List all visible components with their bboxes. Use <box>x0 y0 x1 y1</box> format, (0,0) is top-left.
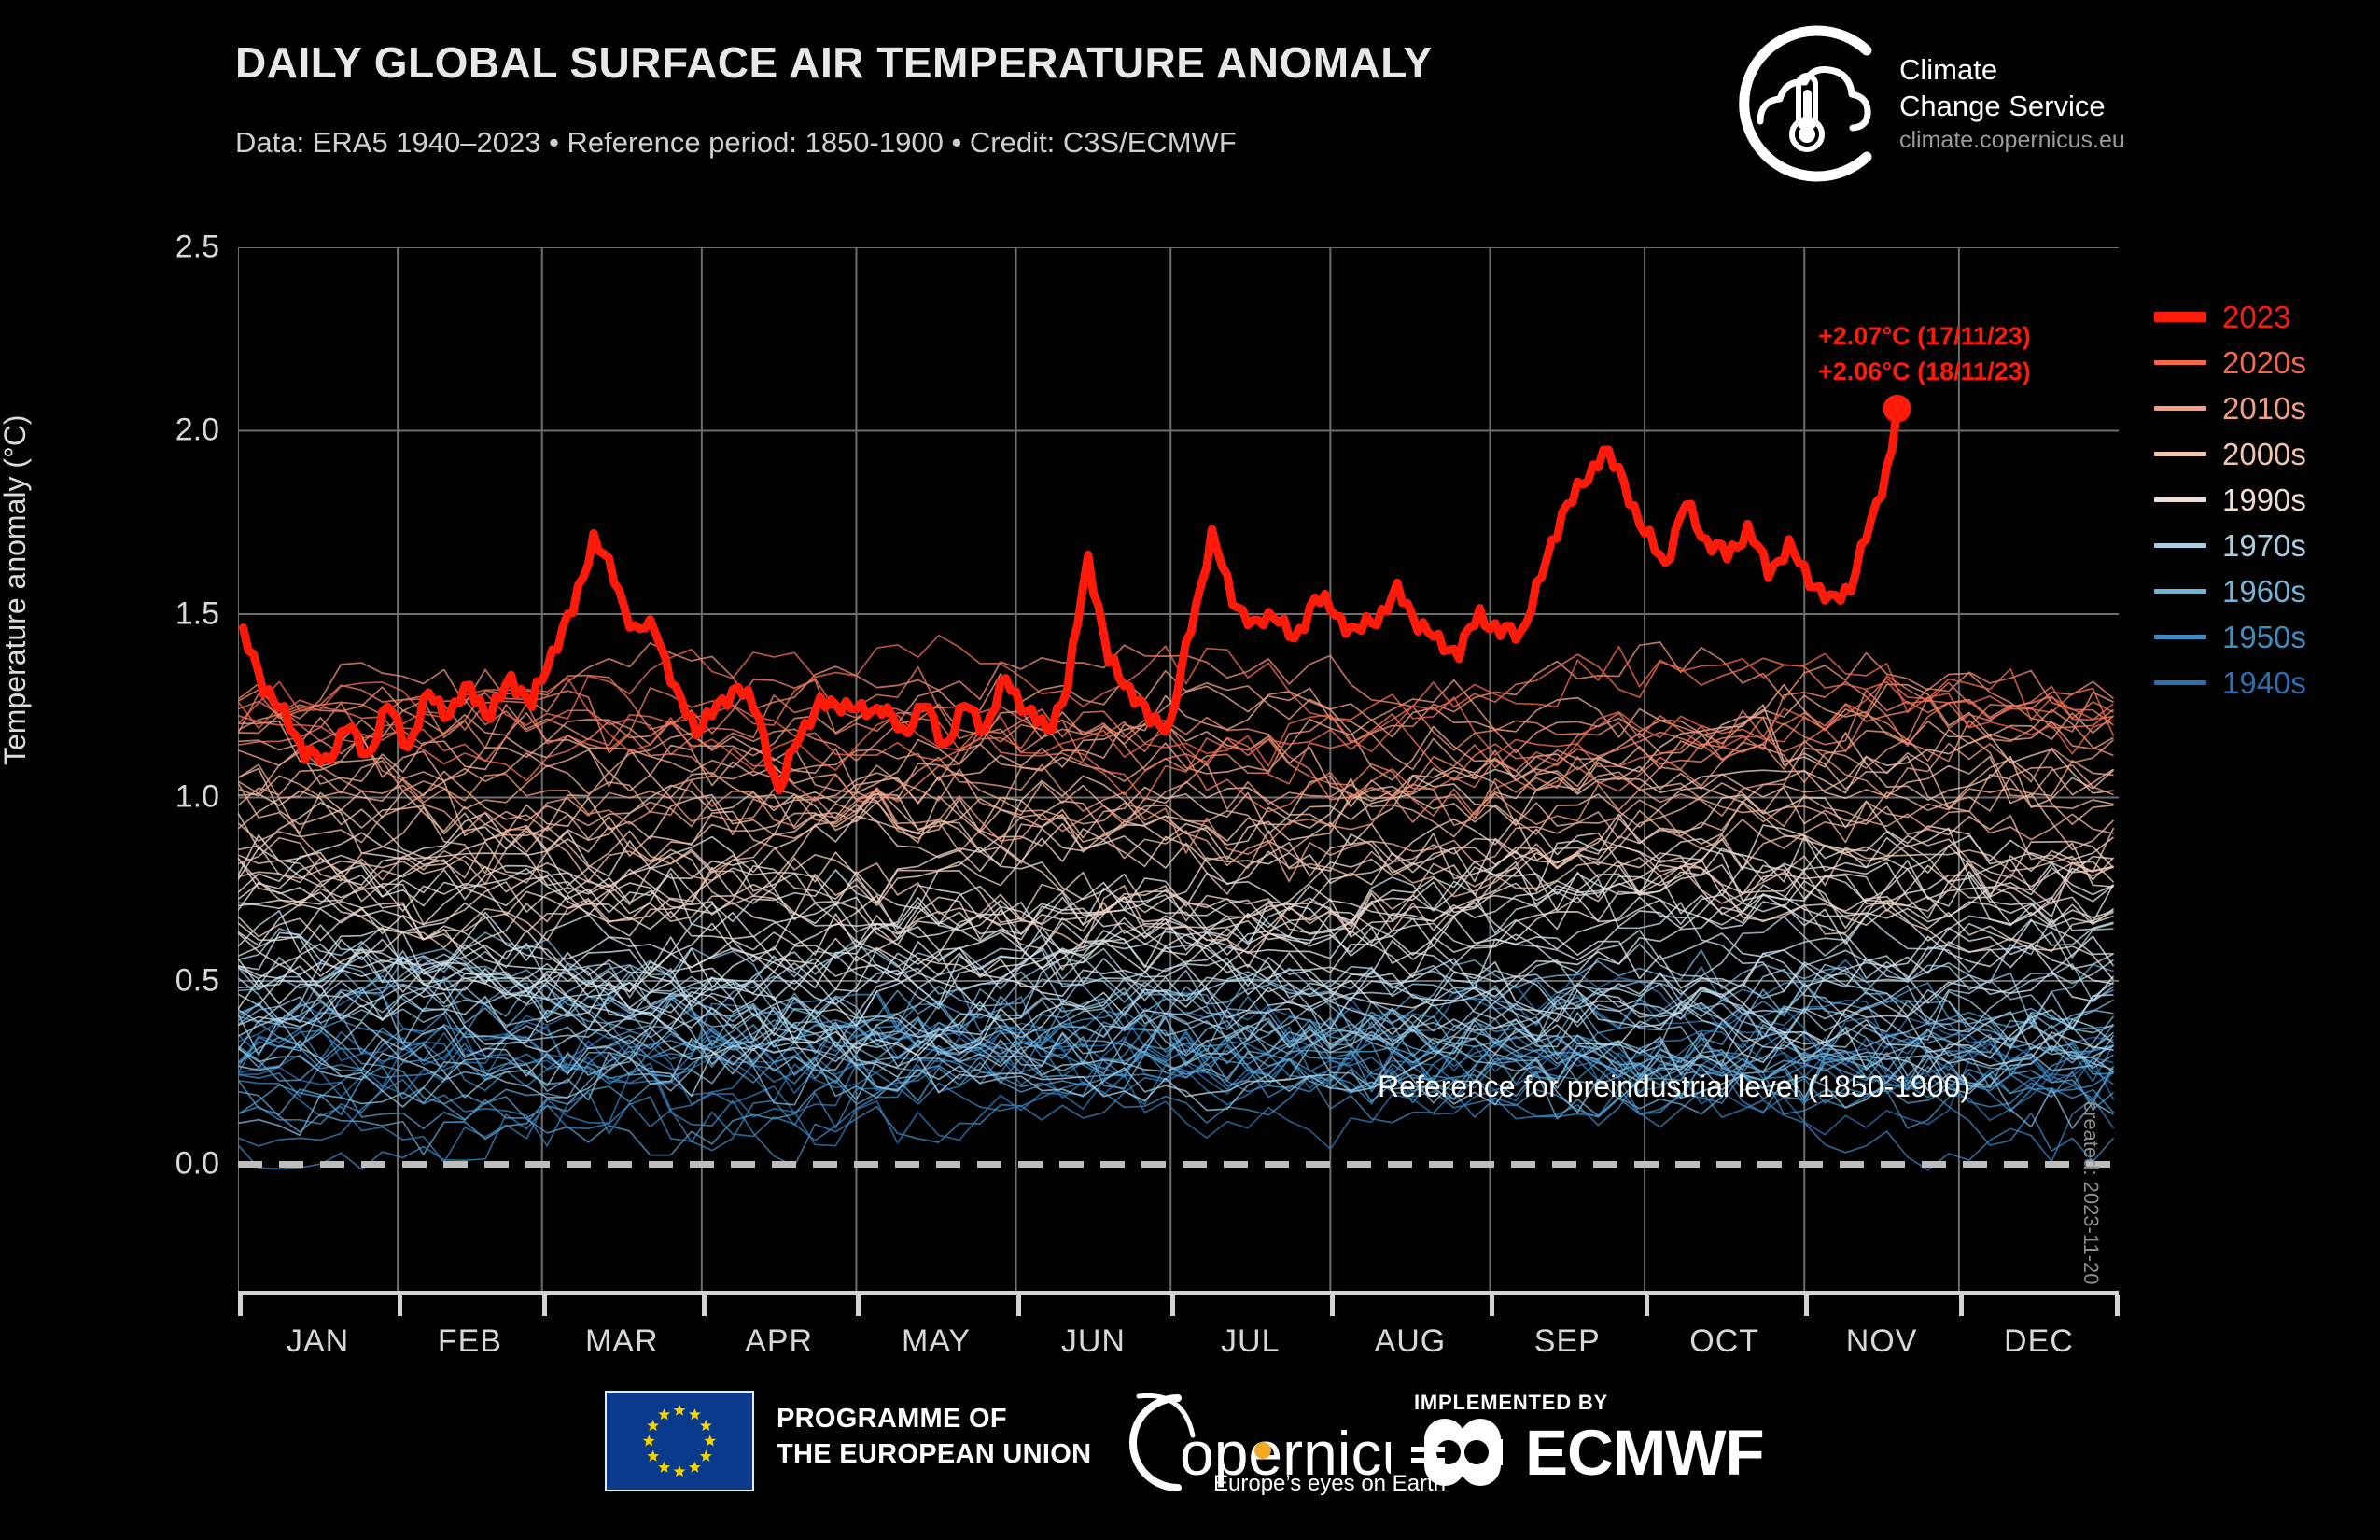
legend-swatch <box>2154 635 2206 639</box>
ecmwf-wordmark: ECMWF <box>1525 1421 1764 1485</box>
created-date: created: 2023-11-20 <box>2079 1101 2103 1285</box>
x-tick-label: FEB <box>438 1323 502 1360</box>
x-tick <box>1330 1295 1335 1316</box>
legend-label: 2000s <box>2222 437 2306 472</box>
chart-plot-area <box>238 247 2119 1293</box>
x-axis-spine <box>238 1291 2119 1295</box>
c3s-line-2: Change Service <box>1899 89 2106 125</box>
ecmwf-mark <box>1411 1417 1516 1488</box>
reference-line-label: Reference for preindustrial level (1850-… <box>1378 1070 1970 1104</box>
legend-item-1950s[interactable]: 1950s <box>2154 614 2378 660</box>
page-title: DAILY GLOBAL SURFACE AIR TEMPERATURE ANO… <box>235 37 1433 88</box>
legend-label: 1990s <box>2222 483 2306 518</box>
x-tick <box>398 1295 402 1316</box>
x-tick <box>2115 1295 2120 1316</box>
legend-swatch <box>2154 312 2206 322</box>
x-tick <box>702 1295 707 1316</box>
x-tick <box>542 1295 547 1316</box>
eu-stars <box>607 1393 752 1490</box>
x-tick <box>1170 1295 1175 1316</box>
legend-swatch <box>2154 406 2206 411</box>
c3s-line-1: Climate <box>1899 52 2106 89</box>
legend-swatch <box>2154 360 2206 365</box>
x-tick-label: APR <box>745 1323 813 1360</box>
y-tick-label: 1.0 <box>117 779 219 816</box>
legend-item-2010s[interactable]: 2010s <box>2154 385 2378 431</box>
y-tick-label: 2.0 <box>117 413 219 449</box>
x-tick <box>1016 1295 1021 1316</box>
eu-line-1: PROGRAMME OF <box>777 1402 1091 1437</box>
legend-label: 2010s <box>2222 391 2306 427</box>
x-tick-label: MAY <box>902 1323 971 1360</box>
legend-item-1970s[interactable]: 1970s <box>2154 523 2378 568</box>
legend-item-1960s[interactable]: 1960s <box>2154 568 2378 614</box>
x-tick-label: JAN <box>287 1323 349 1360</box>
eu-flag-icon <box>605 1391 754 1491</box>
eu-programme-text: PROGRAMME OF THE EUROPEAN UNION <box>777 1402 1091 1472</box>
legend-item-2023[interactable]: 2023 <box>2154 294 2378 340</box>
y-axis-title: Temperature anomaly (°C) <box>0 414 33 765</box>
legend-label: 2020s <box>2222 345 2306 381</box>
x-tick-label: OCT <box>1689 1323 1759 1360</box>
x-tick <box>1645 1295 1649 1316</box>
ecmwf-logo: ECMWF <box>1411 1417 1764 1488</box>
x-tick-label: NOV <box>1846 1323 1918 1360</box>
x-tick-label: MAR <box>585 1323 659 1360</box>
legend-swatch <box>2154 497 2206 502</box>
x-tick <box>1959 1295 1964 1316</box>
chart-svg <box>238 247 2119 1293</box>
legend-item-2020s[interactable]: 2020s <box>2154 340 2378 385</box>
implemented-by-label: IMPLEMENTED BY <box>1414 1391 1608 1415</box>
footer-logos: PROGRAMME OF THE EUROPEAN UNION opernicu… <box>0 1379 2380 1510</box>
legend-label: 1970s <box>2222 528 2306 564</box>
legend-label: 1950s <box>2222 620 2306 655</box>
y-tick-label: 1.5 <box>117 595 219 632</box>
legend-swatch <box>2154 680 2206 685</box>
x-tick <box>1804 1295 1809 1316</box>
legend-item-2000s[interactable]: 2000s <box>2154 431 2378 477</box>
x-tick <box>856 1295 861 1316</box>
y-tick-label: 0.0 <box>117 1146 219 1183</box>
legend-item-1940s[interactable]: 1940s <box>2154 660 2378 706</box>
legend-swatch <box>2154 452 2206 456</box>
x-tick-label: DEC <box>2004 1323 2074 1360</box>
x-tick-label: JUL <box>1221 1323 1280 1360</box>
x-tick-label: AUG <box>1375 1323 1447 1360</box>
eu-line-2: THE EUROPEAN UNION <box>777 1437 1091 1473</box>
cloud-thermometer-icon <box>1727 24 1885 183</box>
y-tick-label: 0.5 <box>117 962 219 999</box>
page-subtitle: Data: ERA5 1940–2023 • Reference period:… <box>235 126 1237 160</box>
chart-legend: 20232020s2010s2000s1990s1970s1960s1950s1… <box>2154 294 2378 706</box>
peak-annotation-2: +2.06°C (18/11/23) <box>1818 357 2031 386</box>
c3s-url: climate.copernicus.eu <box>1899 127 2125 154</box>
x-tick <box>1490 1295 1494 1316</box>
y-tick-label: 2.5 <box>117 230 219 266</box>
legend-label: 2023 <box>2222 300 2290 335</box>
x-tick-label: JUN <box>1061 1323 1126 1360</box>
x-tick <box>238 1295 243 1316</box>
legend-swatch <box>2154 589 2206 594</box>
peak-annotation-1: +2.07°C (17/11/23) <box>1818 322 2031 351</box>
legend-label: 1960s <box>2222 574 2306 609</box>
legend-item-1990s[interactable]: 1990s <box>2154 477 2378 523</box>
c3s-logo: Climate Change Service climate.copernicu… <box>1708 17 2147 194</box>
c3s-logo-text: Climate Change Service <box>1899 52 2106 125</box>
legend-swatch <box>2154 543 2206 548</box>
x-tick-label: SEP <box>1534 1323 1601 1360</box>
legend-label: 1940s <box>2222 665 2306 701</box>
